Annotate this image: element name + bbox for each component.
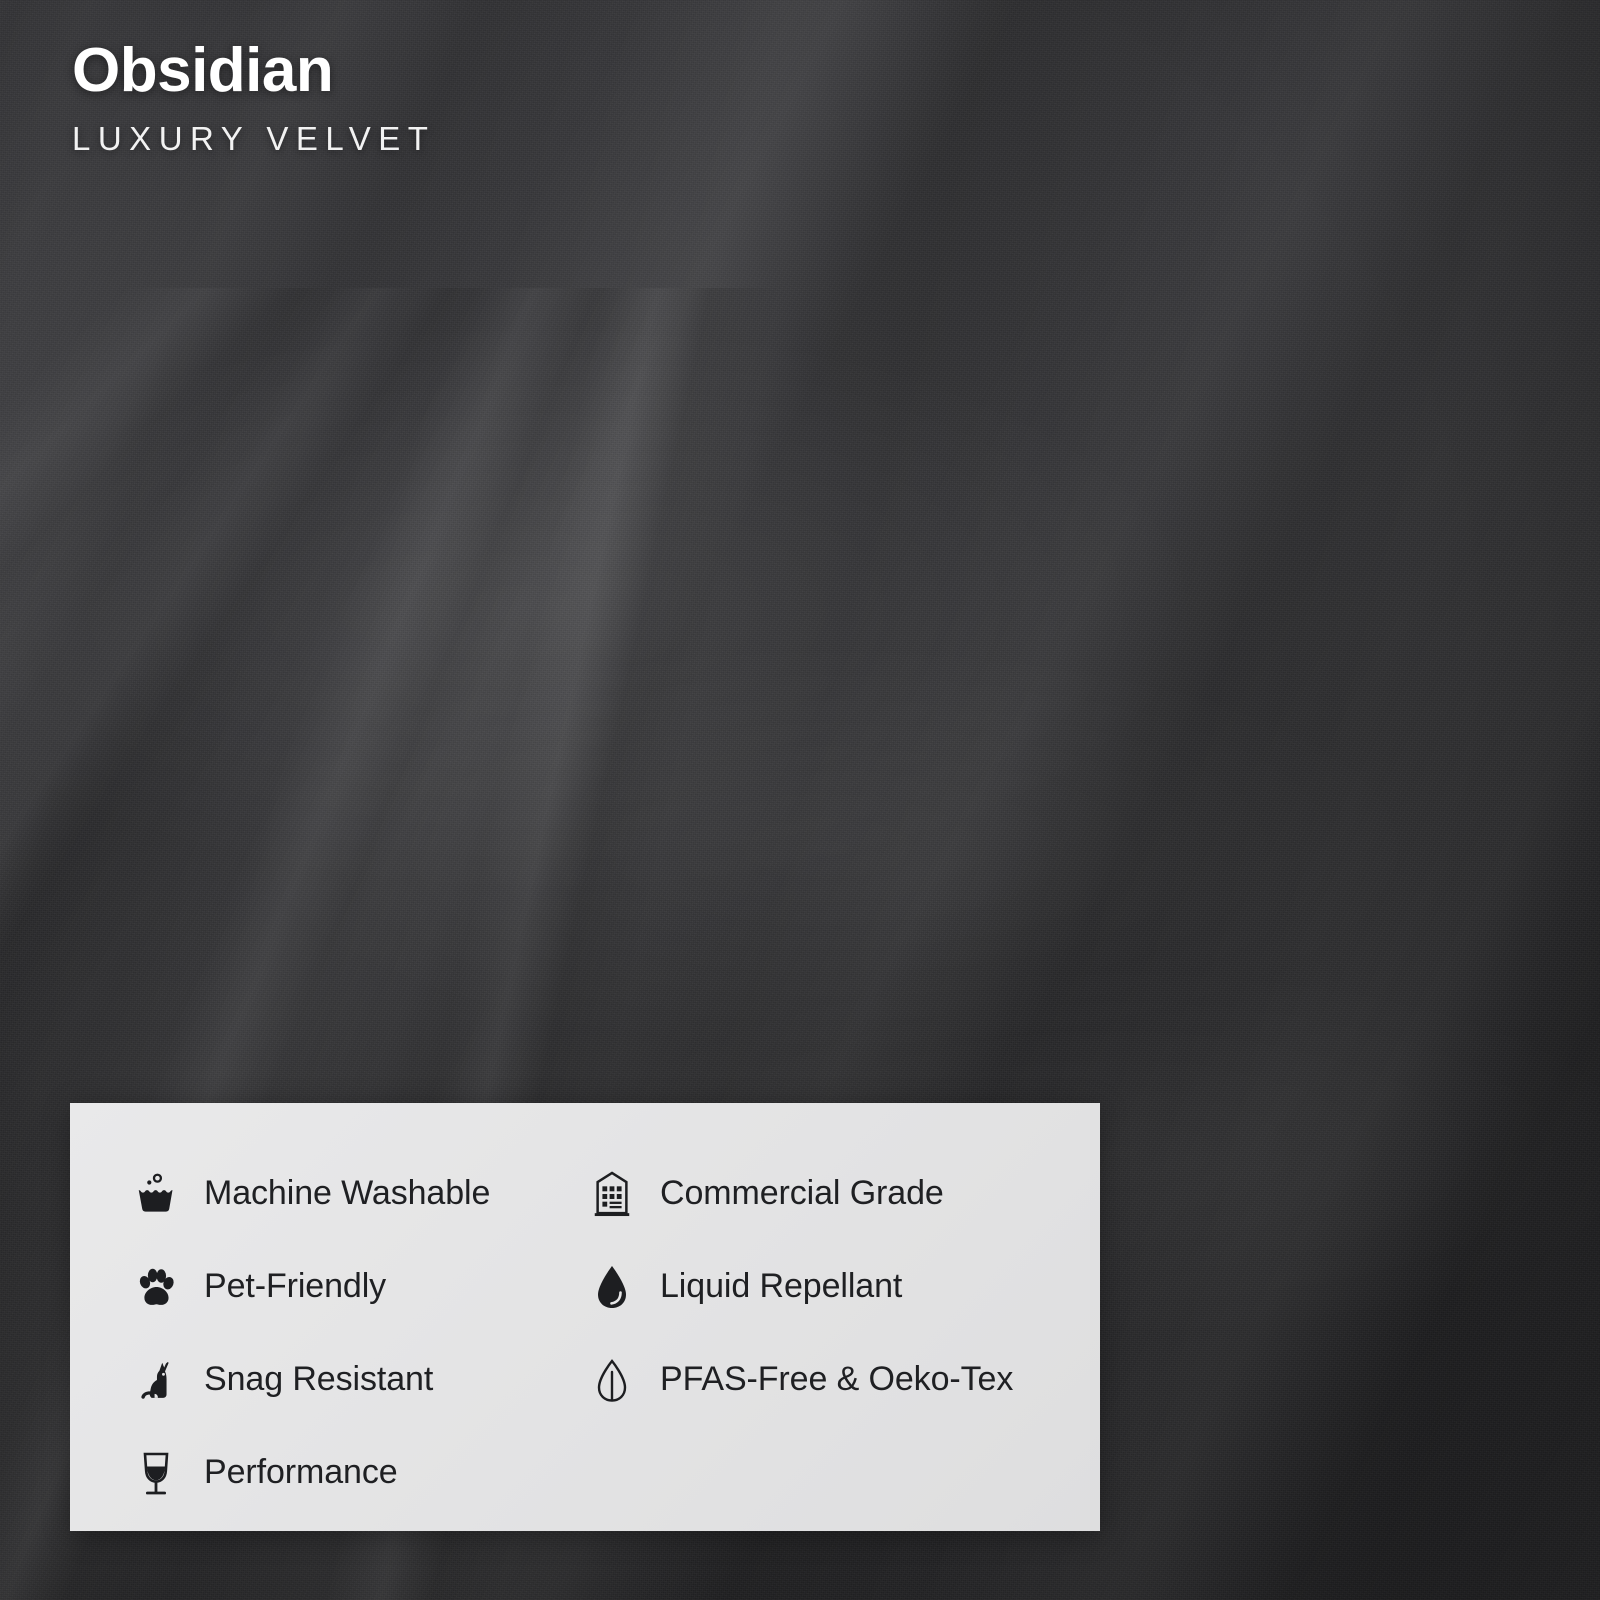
feature-item-machine-washable: Machine Washable [70, 1168, 540, 1220]
feature-item-commercial-grade: Commercial Grade [540, 1168, 944, 1220]
feature-item-pet-friendly: Pet-Friendly [70, 1261, 540, 1313]
feature-item-performance: Performance [70, 1447, 540, 1499]
feature-label: Pet-Friendly [204, 1267, 386, 1306]
feature-label: Liquid Repellant [660, 1267, 902, 1306]
feature-row: Pet-Friendly Liquid Repellant [70, 1240, 1100, 1333]
fabric-swatch-card: Obsidian LUXURY VELVET Machine Washable [0, 0, 1600, 1600]
feature-label: Commercial Grade [660, 1174, 944, 1213]
feature-item-liquid-repellant: Liquid Repellant [540, 1261, 902, 1313]
building-icon [586, 1168, 638, 1220]
feature-label: Snag Resistant [204, 1360, 433, 1399]
swatch-collection: LUXURY VELVET [72, 120, 435, 158]
swatch-header: Obsidian LUXURY VELVET [72, 38, 435, 158]
feature-row: Performance [70, 1426, 1100, 1519]
feature-label: Machine Washable [204, 1174, 490, 1213]
feature-row: Snag Resistant PFAS-Free & Oeko-Tex [70, 1333, 1100, 1426]
feature-panel: Machine Washable Commercial Grade [70, 1103, 1100, 1531]
leaf-icon [586, 1354, 638, 1406]
wine-glass-icon [130, 1447, 182, 1499]
feature-label: Performance [204, 1453, 398, 1492]
water-droplet-icon [586, 1261, 638, 1313]
feature-label: PFAS-Free & Oeko-Tex [660, 1360, 1013, 1399]
swatch-name: Obsidian [72, 38, 435, 103]
feature-item-snag-resistant: Snag Resistant [70, 1354, 540, 1406]
washing-basket-icon [130, 1168, 182, 1220]
sitting-cat-icon [130, 1354, 182, 1406]
feature-item-pfas-free-oeko-tex: PFAS-Free & Oeko-Tex [540, 1354, 1013, 1406]
paw-print-icon [130, 1261, 182, 1313]
feature-row: Machine Washable Commercial Grade [70, 1147, 1100, 1240]
